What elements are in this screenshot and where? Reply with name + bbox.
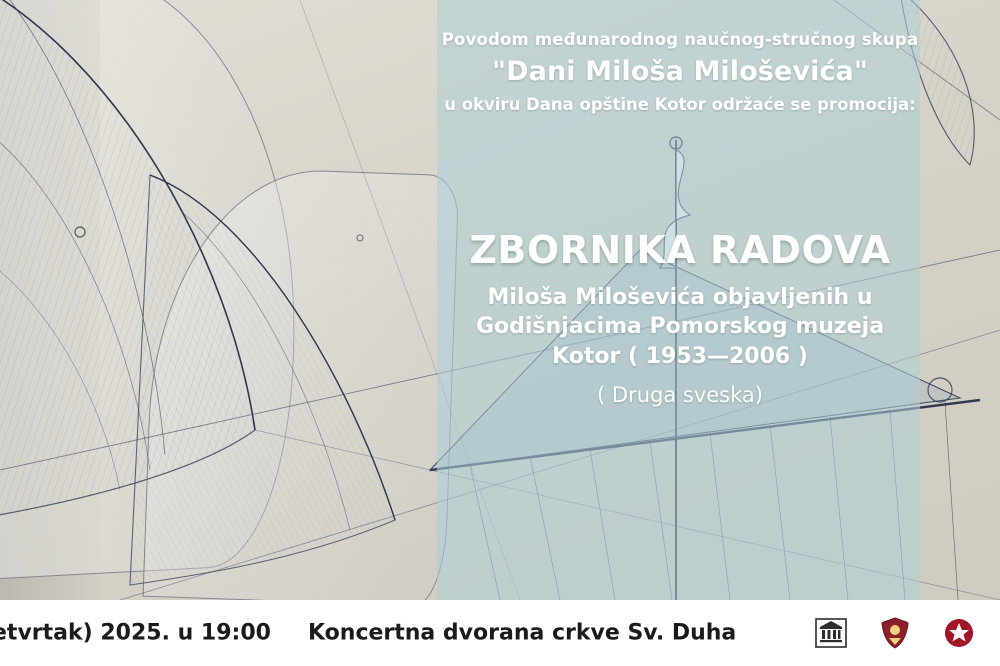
footer-date: etvrtak) 2025. u 19:00 xyxy=(0,621,271,646)
shield-emblem-logo xyxy=(942,616,976,650)
footer-bar: etvrtak) 2025. u 19:00 Koncertna dvorana… xyxy=(0,600,1000,666)
header-line-3: u okviru Dana opštine Kotor održaće se p… xyxy=(420,95,940,114)
header-line-2-event-title: "Dani Miloša Miloševića" xyxy=(420,56,940,87)
footer-venue: Koncertna dvorana crkve Sv. Duha xyxy=(308,621,736,646)
poster: Povodom međunarodnog naučnog-stručnog sk… xyxy=(0,0,1000,666)
subtitle: Miloša Miloševića objavljenih u Godišnja… xyxy=(420,283,940,371)
header-line-1: Povodom međunarodnog naučnog-stručnog sk… xyxy=(420,30,940,49)
coat-of-arms-logo xyxy=(878,616,912,650)
volume-label: ( Druga sveska) xyxy=(420,383,940,407)
main-title: ZBORNIKA RADOVA xyxy=(420,228,940,272)
museum-building-logo xyxy=(814,616,848,650)
poster-text: Povodom međunarodnog naučnog-stručnog sk… xyxy=(0,0,1000,600)
footer-logos xyxy=(814,616,976,650)
